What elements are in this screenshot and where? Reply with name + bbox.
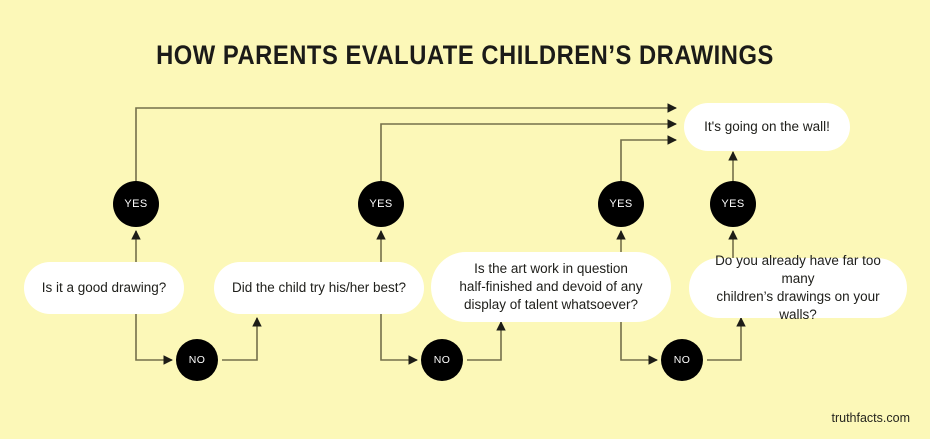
no-label: NO (434, 354, 451, 366)
decision-yes-q4: YES (710, 181, 756, 227)
yes-label: YES (369, 198, 392, 210)
wire-q1-yes (136, 108, 676, 182)
question-label-q3-line2: half-finished and devoid of any (459, 278, 642, 296)
wire-q3-yes (621, 140, 676, 182)
wire-no2-to-q3 (467, 322, 501, 360)
yes-label: YES (609, 198, 632, 210)
wire-q2-no (381, 314, 417, 360)
infographic-canvas: HOW PARENTS EVALUATE CHILDREN’S DRAWINGS (0, 0, 930, 439)
question-node-q3: Is the art work in question half-finishe… (431, 252, 671, 322)
decision-yes-q1: YES (113, 181, 159, 227)
wire-no3-to-q4 (707, 318, 741, 360)
no-label: NO (674, 354, 691, 366)
question-label-q4-line2: children’s drawings on your walls? (703, 288, 893, 324)
wire-q1-no (136, 314, 172, 360)
question-label-q4-line1: Do you already have far too many (703, 252, 893, 288)
question-label-q3-line3: display of talent whatsoever? (464, 296, 638, 314)
question-label-q3-line1: Is the art work in question (474, 260, 628, 278)
decision-no-q2: NO (421, 339, 463, 381)
wire-q2-yes (381, 124, 676, 182)
wire-no1-to-q2 (222, 318, 257, 360)
no-label: NO (189, 354, 206, 366)
outcome-label: It's going on the wall! (704, 118, 830, 136)
decision-yes-q2: YES (358, 181, 404, 227)
outcome-node: It's going on the wall! (684, 103, 850, 151)
question-node-q4: Do you already have far too many childre… (689, 258, 907, 318)
decision-no-q1: NO (176, 339, 218, 381)
question-label-q2: Did the child try his/her best? (232, 279, 406, 297)
yes-label: YES (124, 198, 147, 210)
question-label-q1: Is it a good drawing? (42, 279, 167, 297)
source-watermark: truthfacts.com (832, 411, 911, 425)
question-node-q1: Is it a good drawing? (24, 262, 184, 314)
decision-yes-q3: YES (598, 181, 644, 227)
decision-no-q3: NO (661, 339, 703, 381)
yes-label: YES (721, 198, 744, 210)
question-node-q2: Did the child try his/her best? (214, 262, 424, 314)
